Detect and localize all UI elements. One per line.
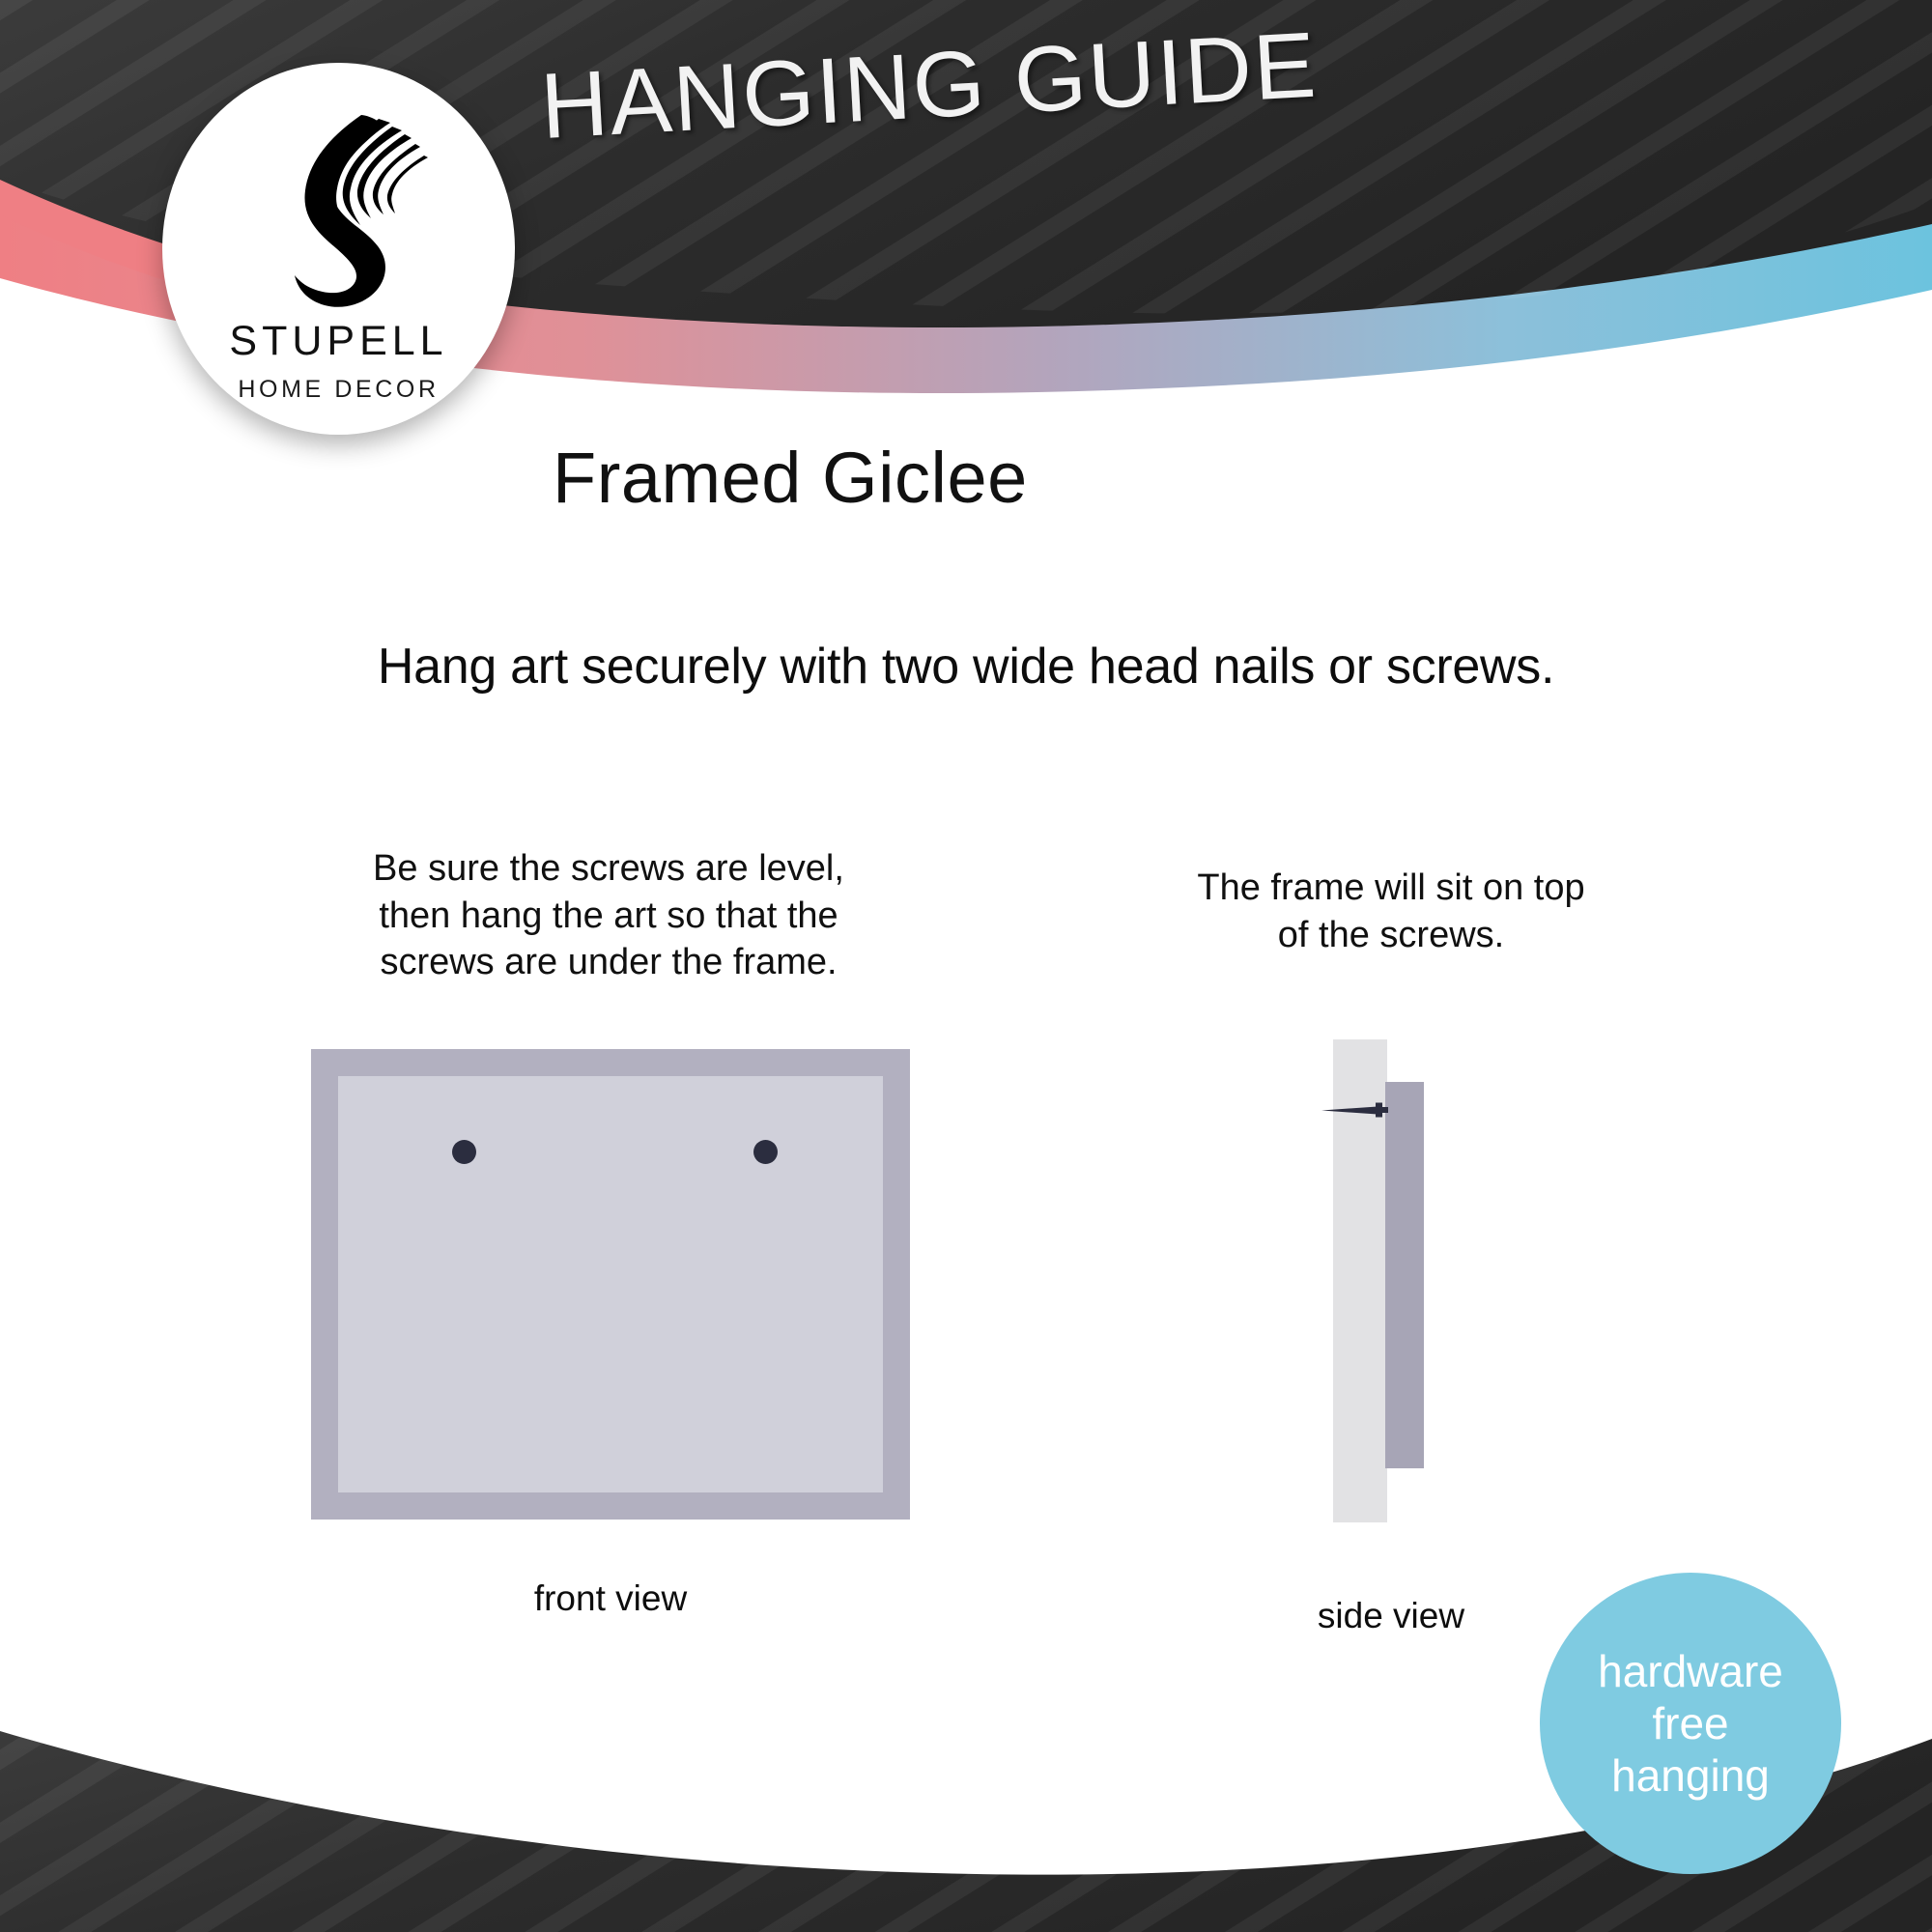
badge-line-1: hardware xyxy=(1598,1645,1783,1697)
brand-wordmark: STUPELL xyxy=(229,318,447,365)
side-view-caption: The frame will sit on top of the screws. xyxy=(1140,865,1642,958)
side-view-label: side view xyxy=(1246,1596,1536,1636)
front-view-diagram xyxy=(311,1049,910,1520)
brand-logo-badge: STUPELL HOME DECOR xyxy=(162,63,515,435)
main-instruction-text: Hang art securely with two wide head nai… xyxy=(0,638,1932,696)
badge-line-2: free xyxy=(1652,1697,1728,1749)
front-view-label: front view xyxy=(311,1578,910,1619)
page-title: HANGING GUIDE xyxy=(538,10,1374,160)
side-view-caption-line-1: The frame will sit on top xyxy=(1140,865,1642,912)
front-view-caption-line-1: Be sure the screws are level, xyxy=(290,845,927,893)
side-view-caption-line-2: of the screws. xyxy=(1140,912,1642,959)
screw-dot-left xyxy=(452,1140,476,1164)
side-view-frame xyxy=(1385,1082,1424,1468)
side-view-diagram xyxy=(1333,1039,1449,1522)
front-view-caption-line-3: screws are under the frame. xyxy=(290,939,927,986)
product-type-heading: Framed Giclee xyxy=(553,437,1028,519)
badge-line-3: hanging xyxy=(1611,1749,1770,1802)
front-view-artwork-area xyxy=(338,1076,883,1492)
hanging-guide-page: STUPELL HOME DECOR HANGING GUIDE Framed … xyxy=(0,0,1932,1932)
stupell-swirl-logo-icon xyxy=(247,107,431,308)
front-view-caption: Be sure the screws are level, then hang … xyxy=(290,845,927,986)
nail-icon xyxy=(1321,1102,1406,1118)
front-view-caption-line-2: then hang the art so that the xyxy=(290,893,927,940)
screw-dot-right xyxy=(753,1140,778,1164)
brand-sub-wordmark: HOME DECOR xyxy=(238,376,439,404)
hardware-free-hanging-badge: hardware free hanging xyxy=(1540,1573,1841,1874)
